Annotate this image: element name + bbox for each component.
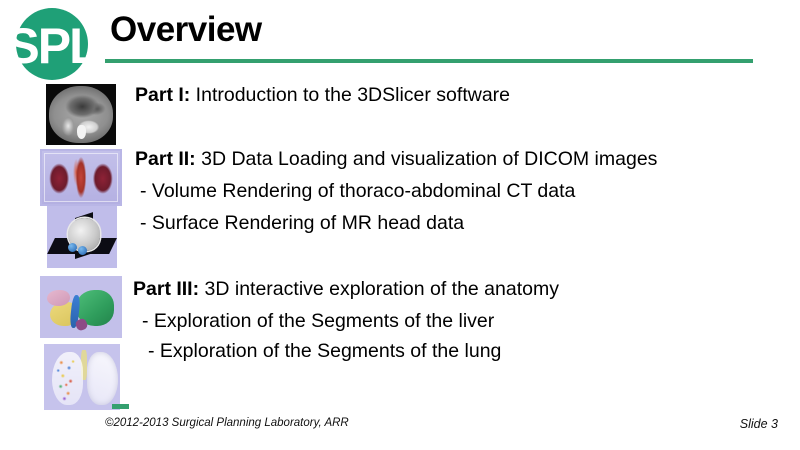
copyright-notice: ©2012-2013 Surgical Planning Laboratory,… bbox=[105, 417, 349, 429]
outline-text-part-2: 3D Data Loading and visualization of DIC… bbox=[196, 148, 658, 170]
outline-lead-part-3: Part III: bbox=[133, 278, 199, 300]
outline-text-part-2-bullet-2: - Surface Rendering of MR head data bbox=[140, 212, 464, 234]
slide-canvas: SPL Overview bbox=[0, 0, 800, 450]
outline-text-part-3-bullet-1: - Exploration of the Segments of the liv… bbox=[142, 310, 494, 332]
footer-accent-mark bbox=[112, 404, 129, 409]
outline-item-part-2: Part II: 3D Data Loading and visualizati… bbox=[135, 148, 657, 171]
outline-text-part-3: 3D interactive exploration of the anatom… bbox=[199, 278, 559, 300]
outline-item-part-3-bullet-1: - Exploration of the Segments of the liv… bbox=[142, 310, 494, 333]
outline-lead-part-1: Part I: bbox=[135, 84, 190, 106]
outline-list: Part I: Introduction to the 3DSlicer sof… bbox=[0, 0, 800, 450]
outline-item-part-3-bullet-2: - Exploration of the Segments of the lun… bbox=[148, 340, 501, 363]
outline-text-part-1: Introduction to the 3DSlicer software bbox=[190, 84, 510, 106]
outline-lead-part-2: Part II: bbox=[135, 148, 196, 170]
outline-text-part-2-bullet-1: - Volume Rendering of thoraco-abdominal … bbox=[140, 180, 575, 202]
slide-number: Slide 3 bbox=[740, 417, 778, 431]
outline-item-part-3: Part III: 3D interactive exploration of … bbox=[133, 278, 559, 301]
outline-item-part-2-bullet-1: - Volume Rendering of thoraco-abdominal … bbox=[140, 180, 575, 203]
outline-item-part-2-bullet-2: - Surface Rendering of MR head data bbox=[140, 212, 464, 235]
outline-text-part-3-bullet-2: - Exploration of the Segments of the lun… bbox=[148, 340, 501, 362]
outline-item-part-1: Part I: Introduction to the 3DSlicer sof… bbox=[135, 84, 510, 107]
